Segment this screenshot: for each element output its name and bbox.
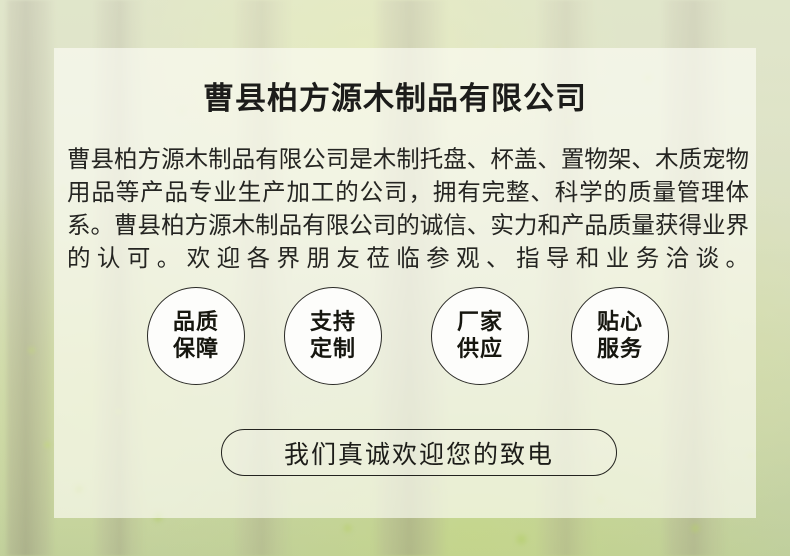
feature-badge-quality: 品质 保障 (147, 287, 245, 385)
badge-line-1: 品质 (173, 309, 219, 336)
badge-line-1: 贴心 (597, 309, 643, 336)
badge-line-2: 定制 (310, 336, 356, 363)
badge-line-2: 供应 (457, 336, 503, 363)
feature-badge-factory-supply: 厂家 供应 (431, 287, 529, 385)
feature-badge-service: 贴心 服务 (571, 287, 669, 385)
badge-line-1: 支持 (310, 309, 356, 336)
feature-badge-group: 品质 保障 支持 定制 厂家 供应 贴心 服务 (140, 287, 680, 387)
badge-line-1: 厂家 (457, 309, 503, 336)
call-to-action-button[interactable]: 我们真诚欢迎您的致电 (221, 429, 617, 476)
company-promo-banner: 曹县柏方源木制品有限公司 曹县柏方源木制品有限公司是木制托盘、杯盖、置物架、木质… (0, 0, 790, 556)
badge-line-2: 服务 (597, 336, 643, 363)
page-title: 曹县柏方源木制品有限公司 (0, 81, 790, 118)
company-description: 曹县柏方源木制品有限公司是木制托盘、杯盖、置物架、木质宠物用品等产品专业生产加工… (67, 143, 749, 275)
badge-line-2: 保障 (173, 336, 219, 363)
feature-badge-customization: 支持 定制 (284, 287, 382, 385)
